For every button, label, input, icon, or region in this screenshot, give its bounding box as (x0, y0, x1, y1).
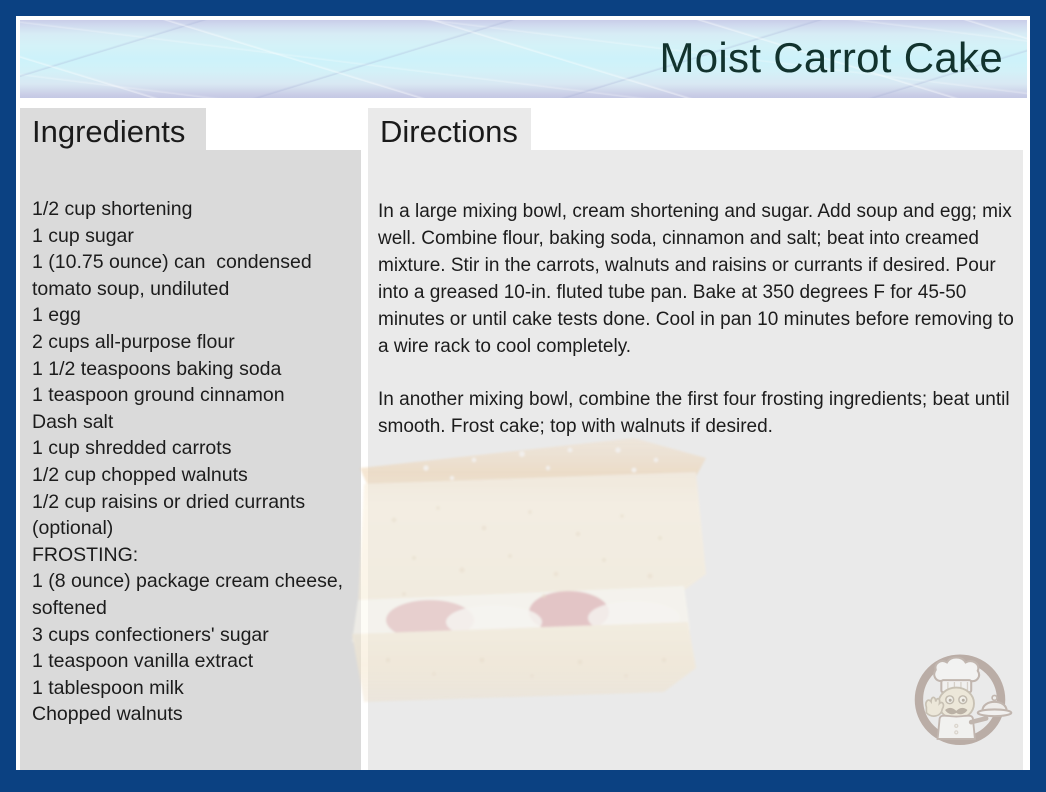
page-title: Moist Carrot Cake (659, 34, 1003, 82)
directions-paragraph: In another mixing bowl, combine the firs… (378, 386, 1023, 440)
recipe-card-inner: Moist Carrot Cake Ingredients 1/2 cup sh… (16, 16, 1030, 770)
directions-paragraph: In a large mixing bowl, cream shortening… (378, 198, 1023, 360)
directions-body: In a large mixing bowl, cream shortening… (378, 198, 1023, 440)
ingredients-list: 1/2 cup shortening 1 cup sugar 1 (10.75 … (32, 196, 357, 728)
recipe-card: Moist Carrot Cake Ingredients 1/2 cup sh… (0, 0, 1046, 792)
ingredients-heading: Ingredients (20, 108, 206, 150)
directions-heading: Directions (368, 108, 531, 150)
header-banner: Moist Carrot Cake (20, 20, 1027, 98)
